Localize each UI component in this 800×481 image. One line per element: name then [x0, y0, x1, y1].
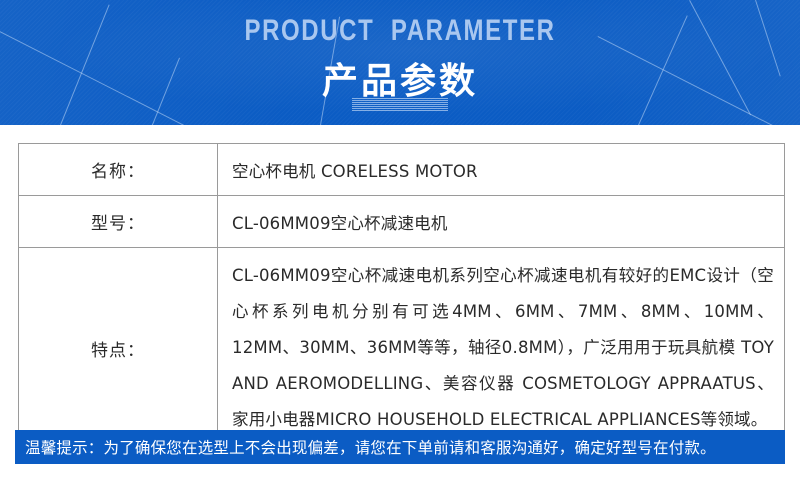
row-label-name: 名称：: [19, 144, 218, 196]
table-row: 型号： CL-06MM09空心杯减速电机: [19, 196, 785, 248]
row-value-name: 空心杯电机 CORELESS MOTOR: [218, 144, 785, 196]
product-parameter-table: 名称： 空心杯电机 CORELESS MOTOR 型号： CL-06MM09空心…: [18, 143, 785, 449]
table-row: 特点： CL-06MM09空心杯减速电机系列空心杯减速电机有较好的EMC设计（空…: [19, 248, 785, 449]
table-row: 名称： 空心杯电机 CORELESS MOTOR: [19, 144, 785, 196]
row-value-features: CL-06MM09空心杯减速电机系列空心杯减速电机有较好的EMC设计（空心杯系列…: [218, 248, 785, 449]
page-header-banner: PRODUCT PARAMETER 产品参数: [0, 0, 800, 125]
row-value-model: CL-06MM09空心杯减速电机: [218, 196, 785, 248]
banner-decorative-stripes: [352, 98, 448, 111]
row-label-features: 特点：: [19, 248, 218, 449]
row-label-model: 型号：: [19, 196, 218, 248]
banner-title-chinese: 产品参数: [0, 52, 800, 104]
warm-reminder-notice-bar: 温馨提示：为了确保您在选型上不会出现偏差，请您在下单前请和客服沟通好，确定好型号…: [15, 430, 785, 464]
banner-title-english: PRODUCT PARAMETER: [80, 14, 720, 48]
